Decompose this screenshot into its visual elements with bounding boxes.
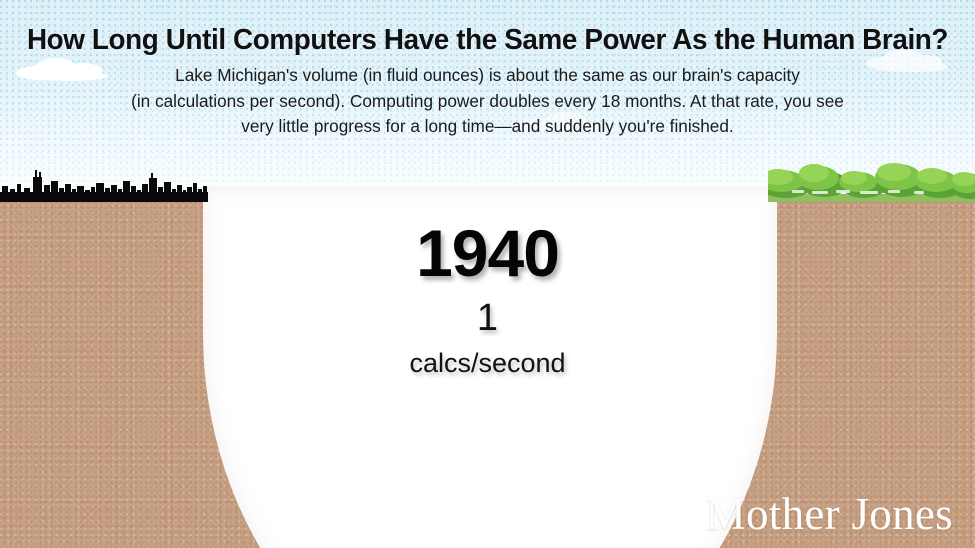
deck-line-3: very little progress for a long time—and… xyxy=(58,114,918,140)
value-readout: 1 xyxy=(0,297,975,340)
deck-line-2: (in calculations per second). Computing … xyxy=(58,89,918,115)
tree-line-icon xyxy=(768,160,975,202)
mother-jones-logo: Mother Jones xyxy=(706,488,953,540)
year-readout: 1940 xyxy=(0,215,975,291)
infographic-canvas: How Long Until Computers Have the Same P… xyxy=(0,0,975,548)
page-title: How Long Until Computers Have the Same P… xyxy=(20,24,956,57)
chicago-skyline-icon xyxy=(0,168,208,202)
deck-line-1: Lake Michigan's volume (in fluid ounces)… xyxy=(58,63,918,89)
deck-paragraph: Lake Michigan's volume (in fluid ounces)… xyxy=(58,63,918,140)
unit-label: calcs/second xyxy=(0,348,975,379)
